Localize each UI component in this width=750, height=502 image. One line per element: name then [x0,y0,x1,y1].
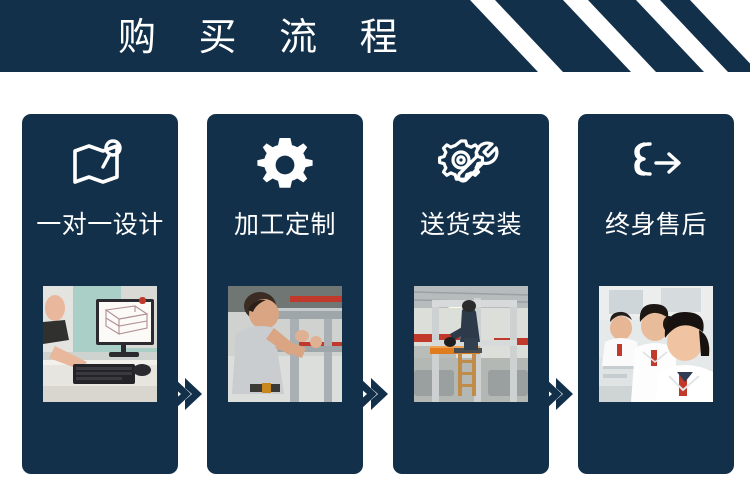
process-flow-cards: 一对一设计 [0,114,750,476]
flow-arrow-2 [357,376,391,412]
flow-arrow-1 [171,376,205,412]
step-card-2-photo [228,286,342,402]
step-card-2[interactable]: 加工定制 [207,114,363,474]
gear-wrench-icon [393,128,549,202]
flow-arrow-3 [542,376,576,412]
step-card-4-photo [599,286,713,402]
step-card-4-label: 终身售后 [578,210,734,240]
phone-outgoing-icon [578,128,734,202]
step-card-2-label: 加工定制 [207,210,363,240]
step-card-1[interactable]: 一对一设计 [22,114,178,474]
page-header: 购 买 流 程 [0,0,750,72]
step-card-4[interactable]: 终身售后 [578,114,734,474]
gear-icon [207,128,363,202]
page-title: 购 买 流 程 [118,16,414,60]
map-pin-icon [22,128,178,202]
step-card-3[interactable]: 送货安装 [393,114,549,474]
step-card-1-photo [43,286,157,402]
step-card-3-photo [414,286,528,402]
step-card-3-label: 送货安装 [393,210,549,240]
step-card-1-label: 一对一设计 [22,210,178,240]
